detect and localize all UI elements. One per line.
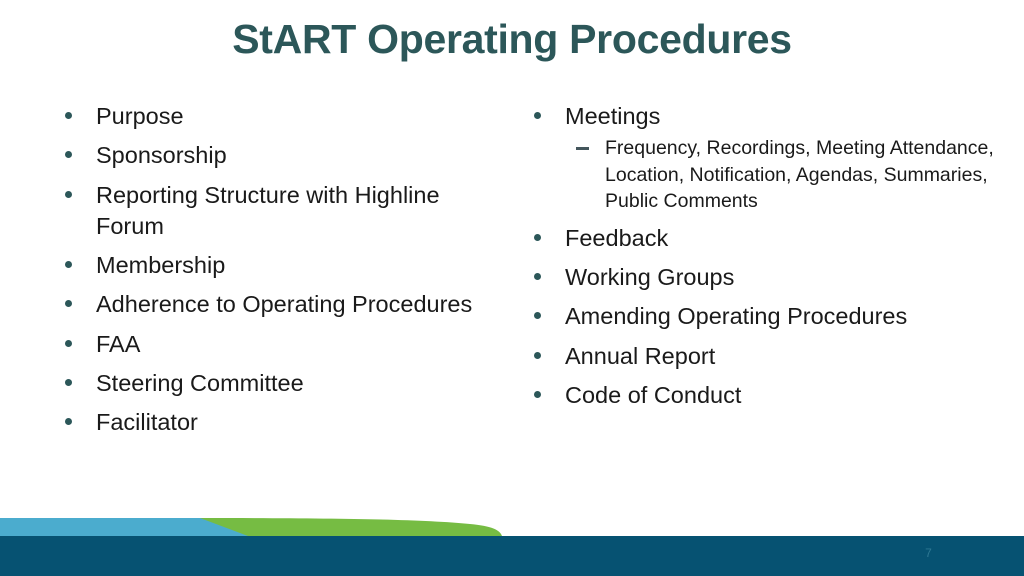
bullet-dot-icon	[534, 234, 541, 241]
list-item-label: FAA	[96, 329, 478, 360]
page-number: 7	[925, 546, 932, 560]
bullet-dot-icon	[534, 352, 541, 359]
list-item-label: Working Groups	[565, 262, 997, 293]
bullet-dot-icon	[534, 273, 541, 280]
list-item-label: Code of Conduct	[565, 380, 997, 411]
sub-list-item-label: Frequency, Recordings, Meeting Attendanc…	[605, 135, 997, 215]
bullet-dot-icon	[65, 300, 72, 307]
page-title: StART Operating Procedures	[0, 16, 1024, 63]
bullet-dot-icon	[65, 418, 72, 425]
bullet-dot-icon	[534, 391, 541, 398]
right-column: Meetings Frequency, Recordings, Meeting …	[527, 101, 997, 419]
list-item-label: Membership	[96, 250, 478, 281]
list-item[interactable]: Adherence to Operating Procedures	[58, 289, 478, 320]
list-item[interactable]: Feedback	[527, 223, 997, 254]
bullet-dot-icon	[65, 112, 72, 119]
list-item[interactable]: Facilitator	[58, 407, 478, 438]
left-column: Purpose Sponsorship Reporting Structure …	[58, 101, 478, 446]
list-item[interactable]: Steering Committee	[58, 368, 478, 399]
list-item[interactable]: FAA	[58, 329, 478, 360]
bullet-dash-icon	[576, 147, 589, 150]
list-item[interactable]: Meetings Frequency, Recordings, Meeting …	[527, 101, 997, 215]
bullet-dot-icon	[65, 340, 72, 347]
footer-dark-bar	[0, 536, 1024, 576]
list-item[interactable]: Reporting Structure with Highline Forum	[58, 180, 478, 243]
list-item[interactable]: Annual Report	[527, 341, 997, 372]
slide: StART Operating Procedures Purpose Spons…	[0, 0, 1024, 576]
list-item-label: Sponsorship	[96, 140, 478, 171]
sub-list-item[interactable]: Frequency, Recordings, Meeting Attendanc…	[565, 135, 997, 215]
list-item[interactable]: Working Groups	[527, 262, 997, 293]
list-item-label: Adherence to Operating Procedures	[96, 289, 478, 320]
left-bullet-list: Purpose Sponsorship Reporting Structure …	[58, 101, 478, 438]
list-item-label: Reporting Structure with Highline Forum	[96, 180, 478, 243]
list-item-label: Steering Committee	[96, 368, 478, 399]
list-item-label: Facilitator	[96, 407, 478, 438]
bullet-dot-icon	[65, 151, 72, 158]
list-item-label: Annual Report	[565, 341, 997, 372]
bullet-dot-icon	[534, 312, 541, 319]
bullet-dot-icon	[65, 191, 72, 198]
bullet-dot-icon	[65, 379, 72, 386]
list-item[interactable]: Purpose	[58, 101, 478, 132]
list-item[interactable]: Membership	[58, 250, 478, 281]
list-item[interactable]: Code of Conduct	[527, 380, 997, 411]
bullet-dot-icon	[65, 261, 72, 268]
list-item-label: Purpose	[96, 101, 478, 132]
list-item[interactable]: Sponsorship	[58, 140, 478, 171]
right-bullet-list: Meetings Frequency, Recordings, Meeting …	[527, 101, 997, 411]
bullet-dot-icon	[534, 112, 541, 119]
list-item-label: Feedback	[565, 223, 997, 254]
list-item[interactable]: Amending Operating Procedures	[527, 301, 997, 332]
list-item-label: Meetings	[565, 101, 997, 132]
slide-body: Purpose Sponsorship Reporting Structure …	[0, 101, 1024, 521]
sub-bullet-list: Frequency, Recordings, Meeting Attendanc…	[565, 135, 997, 215]
list-item-label: Amending Operating Procedures	[565, 301, 997, 332]
